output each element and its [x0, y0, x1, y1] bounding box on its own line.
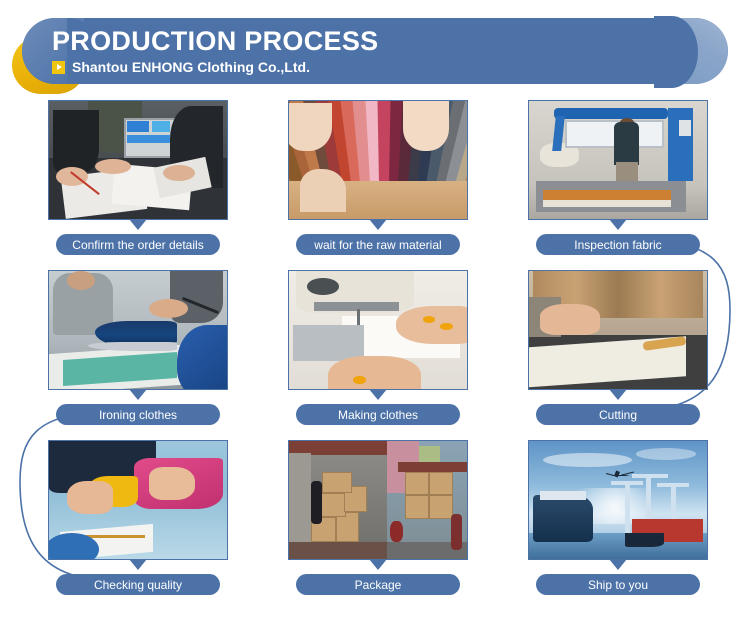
step-image-confirm-order — [48, 100, 228, 220]
arrow-down-icon — [609, 219, 627, 230]
header-banner: PRODUCTION PROCESS Shantou ENHONG Clothi… — [0, 8, 750, 88]
step-image-cutting — [528, 270, 708, 390]
arrow-down-icon — [609, 389, 627, 400]
process-step-checking-quality[interactable]: Checking quality — [48, 440, 228, 595]
process-step-making-clothes[interactable]: Making clothes — [288, 270, 468, 425]
header-subtitle-row: Shantou ENHONG Clothing Co.,Ltd. — [52, 59, 378, 75]
process-step-raw-material[interactable]: wait for the raw material — [288, 100, 468, 255]
step-label-package: Package — [296, 574, 460, 595]
process-step-confirm-order[interactable]: Confirm the order details — [48, 100, 228, 255]
arrow-down-icon — [129, 389, 147, 400]
step-label-checking-quality: Checking quality — [56, 574, 220, 595]
step-label-confirm-order: Confirm the order details — [56, 234, 220, 255]
process-row-3: Checking quality — [0, 440, 750, 610]
step-label-ironing: Ironing clothes — [56, 404, 220, 425]
arrow-down-icon — [609, 559, 627, 570]
header-text-group: PRODUCTION PROCESS Shantou ENHONG Clothi… — [52, 18, 378, 84]
header-right-fold-icon — [658, 18, 728, 84]
process-step-cutting[interactable]: Cutting — [528, 270, 708, 425]
process-row-2: Ironing clothes Making clothes — [0, 270, 750, 440]
step-image-package — [288, 440, 468, 560]
step-image-making-clothes — [288, 270, 468, 390]
arrow-down-icon — [369, 559, 387, 570]
process-row-1: Confirm the order details wait for the r… — [0, 100, 750, 270]
airplane-icon — [600, 472, 639, 480]
step-image-inspection-fabric — [528, 100, 708, 220]
process-step-ironing[interactable]: Ironing clothes — [48, 270, 228, 425]
process-step-inspection-fabric[interactable]: Inspection fabric — [528, 100, 708, 255]
step-label-inspection-fabric: Inspection fabric — [536, 234, 700, 255]
process-grid: Confirm the order details wait for the r… — [0, 100, 750, 610]
arrow-down-icon — [129, 219, 147, 230]
step-image-raw-material — [288, 100, 468, 220]
step-label-cutting: Cutting — [536, 404, 700, 425]
company-name: Shantou ENHONG Clothing Co.,Ltd. — [72, 59, 310, 75]
process-step-ship-to-you[interactable]: Ship to you — [528, 440, 708, 595]
arrow-down-icon — [129, 559, 147, 570]
step-image-ironing — [48, 270, 228, 390]
step-label-making-clothes: Making clothes — [296, 404, 460, 425]
process-step-package[interactable]: Package — [288, 440, 468, 595]
play-triangle-icon — [52, 61, 65, 74]
step-image-checking-quality — [48, 440, 228, 560]
page-title: PRODUCTION PROCESS — [52, 27, 378, 55]
arrow-down-icon — [369, 219, 387, 230]
step-label-ship-to-you: Ship to you — [536, 574, 700, 595]
step-label-raw-material: wait for the raw material — [296, 234, 460, 255]
step-image-ship-to-you — [528, 440, 708, 560]
arrow-down-icon — [369, 389, 387, 400]
